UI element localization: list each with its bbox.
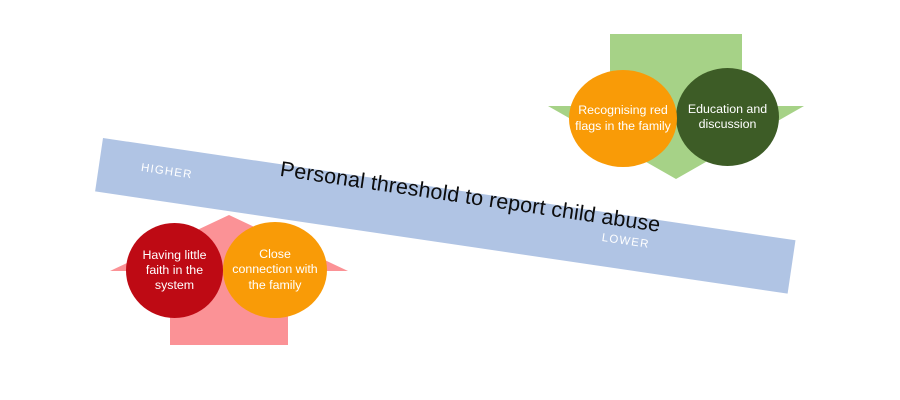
scale-label-higher: HIGHER xyxy=(140,162,193,181)
diagram-canvas: HIGHER LOWER Personal threshold to repor… xyxy=(0,0,900,400)
factor-bubble-label: Having little faith in the system xyxy=(126,248,223,293)
factor-bubble-education-and-discussion: Education and discussion xyxy=(676,68,779,166)
factor-bubble-label: Education and discussion xyxy=(676,102,779,132)
factor-bubble-label: Recognising red flags in the family xyxy=(569,103,677,133)
factor-bubble-recognising-red-flags: Recognising red flags in the family xyxy=(569,70,677,167)
factor-bubble-close-connection-with-family: Close connection with the family xyxy=(223,222,327,318)
factor-bubble-little-faith-in-system: Having little faith in the system xyxy=(126,223,223,318)
factor-bubble-label: Close connection with the family xyxy=(223,247,327,292)
